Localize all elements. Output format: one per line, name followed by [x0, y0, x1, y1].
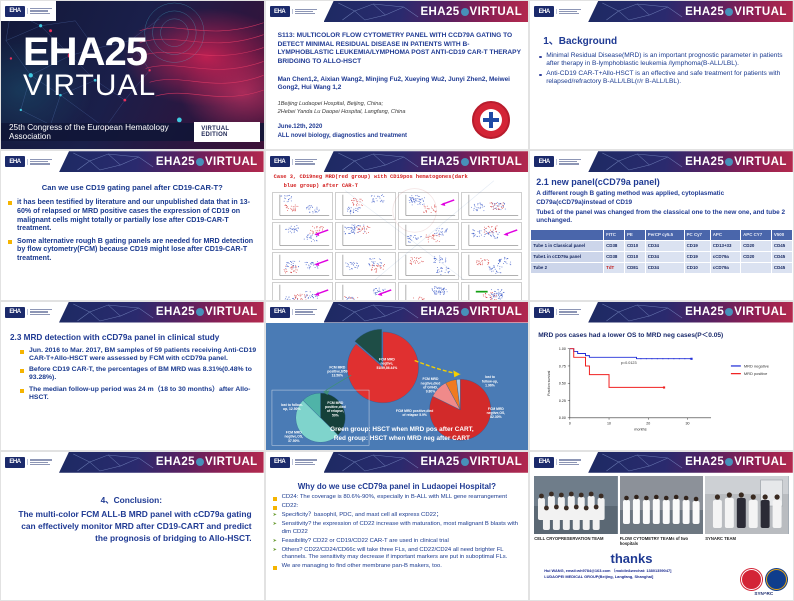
list-item: CD24: The coverage is 80.6%-90%, especia… [273, 494, 522, 501]
table-col-header [531, 229, 604, 240]
chart-heading: MRD pos cases had a lower OS to MRD neg … [538, 329, 793, 339]
svg-text:0.75: 0.75 [559, 364, 566, 368]
eha-logo: EHA [266, 151, 324, 172]
list-item: ➤Sensitivity? the expression of CD22 inc… [273, 521, 522, 535]
km-curve-svg: 0.000.250.500.751.000102030monthsFractio… [536, 341, 787, 437]
eha-logo: EHA [266, 302, 324, 323]
eha-banner: EHA EHA25VIRTUAL [1, 151, 264, 172]
svg-text:MRD positive: MRD positive [744, 371, 768, 376]
banner-title: EHA25VIRTUAL [156, 456, 258, 468]
list-item: Jun. 2016 to Mar. 2017, BM samples of 59… [20, 347, 257, 364]
eha-logo-mark: EHA [534, 307, 554, 318]
svg-text:MRD negative: MRD negative [744, 363, 769, 368]
eha-logo-subtext [292, 9, 317, 15]
list-item: Some alternative rough B gating panels a… [8, 237, 257, 263]
table-cell: CD34 [645, 240, 684, 251]
panel-description-1: A different rough B gating method was ap… [536, 190, 787, 207]
fcm-dot-plot [335, 222, 396, 250]
banner-dot-icon [461, 308, 469, 316]
panel-description-2: Tube1 of the panel was changed from the … [536, 209, 787, 226]
thanks-text: thanks [530, 551, 793, 566]
svg-text:0: 0 [569, 421, 571, 425]
eha-logo: EHA [1, 151, 59, 172]
table-cell: CD45 [771, 240, 792, 251]
arrow-bullet-icon: ➤ [273, 521, 277, 527]
eha-logo-subtext [27, 159, 52, 165]
eha-logo-mark: EHA [5, 6, 25, 17]
fcm-dot-plot [272, 252, 333, 280]
study-bullet-list: Jun. 2016 to Mar. 2017, BM samples of 59… [20, 347, 257, 403]
eha-logo-mark: EHA [270, 156, 290, 167]
table-cell: cCD79a [710, 262, 740, 273]
abstract-title: S113: MULTICOLOR FLOW CYTOMETRY PANEL WI… [278, 32, 523, 67]
legend-red-group: Red group: HSCT when MRD neg after CART [282, 435, 523, 444]
eha-logo-subtext [556, 159, 581, 165]
medical-cross-icon [480, 109, 502, 131]
cover-title-line1: EHA25 [23, 33, 156, 71]
list-item: it has been testified by literature and … [8, 198, 257, 233]
banner-title: EHA25VIRTUAL [420, 456, 522, 468]
banner-dot-icon [725, 158, 733, 166]
eha-banner: EHA EHA25VIRTUAL [266, 452, 529, 473]
table-cell: CD45 [771, 262, 792, 273]
synarc-badge-icon [766, 569, 787, 590]
table-col-header: FITC [604, 229, 625, 240]
svg-text:10: 10 [607, 421, 611, 425]
fcm-dot-plot [335, 282, 396, 301]
banner-title: EHA25VIRTUAL [685, 6, 787, 18]
congress-name: 25th Congress of the European Hematology… [1, 123, 194, 141]
section-heading: 1、Background [543, 32, 786, 47]
fcm-dot-plot [272, 282, 333, 301]
fcm-dot-plot [398, 252, 459, 280]
table-row-label: Tube 1 in Classical panel [531, 240, 604, 251]
banner-dot-icon [461, 158, 469, 166]
slide-9-survival-curve[interactable]: EHA EHA25VIRTUAL MRD pos cases had a low… [529, 301, 794, 451]
table-col-header: PerCP cy5.5 [645, 229, 684, 240]
eha-logo: EHA [530, 1, 588, 22]
slide-deck-grid: EHA EHA25 VIRTUAL 25th Congress of the E… [0, 0, 794, 601]
legend-green-group: Green group: HSCT when MRD pos after CAR… [282, 426, 523, 435]
banner-dot-icon [725, 308, 733, 316]
eha-banner: EHA EHA25VIRTUAL [266, 1, 529, 22]
conclusion-block: 4、Conclusion: The multi-color FCM ALL-B … [11, 495, 252, 545]
banner-bar: EHA25VIRTUAL [324, 452, 529, 473]
slide-4-cd19-gating-question[interactable]: EHA EHA25VIRTUAL Can we use CD19 gating … [0, 150, 265, 300]
table-row: Tube 1 in Classical panelCD38CD10CD34CD1… [531, 240, 793, 251]
rationale-list: CD24: The coverage is 80.6%-90%, especia… [273, 494, 522, 571]
svg-text:9.80%: 9.80% [425, 389, 435, 393]
arrow-bullet-icon: ➤ [273, 538, 277, 544]
table-cell: TdT [604, 262, 625, 273]
slide-2-abstract-title[interactable]: EHA EHA25VIRTUAL S113: MULTICOLOR FLOW C… [265, 0, 530, 150]
banner-bar: EHA25VIRTUAL [324, 302, 529, 323]
arrow-bullet-icon: ➤ [273, 512, 277, 518]
eha-logo: EHA [530, 151, 588, 172]
team-photo-flow-cytometry [620, 476, 704, 534]
table-cell: CD20 [741, 240, 772, 251]
eha-logo-mark: EHA [5, 307, 25, 318]
eha-banner: EHA EHA25VIRTUAL [266, 302, 529, 323]
list-item: We are managing to find other membrane p… [273, 563, 522, 570]
fcm-dot-plot [461, 222, 522, 250]
table-row-label: Tube1 in cCD79a panel [531, 251, 604, 262]
conclusion-text: The multi-color FCM ALL-B MRD panel with… [18, 509, 251, 543]
eha-logo-subtext [292, 459, 317, 465]
eha-logo-subtext [292, 159, 317, 165]
table-cell: CD10 [624, 251, 645, 262]
banner-dot-icon [196, 458, 204, 466]
banner-dot-icon [725, 8, 733, 16]
banner-bar: EHA25VIRTUAL [59, 302, 264, 323]
list-item: Minimal Residual Disease(MRD) is an impo… [537, 52, 786, 68]
table-cell [741, 262, 772, 273]
list-item: CD22: [273, 503, 522, 510]
eha-logo-subtext [27, 8, 52, 14]
cover-title: EHA25 VIRTUAL [23, 33, 156, 101]
svg-text:0.00: 0.00 [559, 416, 566, 420]
banner-dot-icon [461, 8, 469, 16]
eha-logo-mark: EHA [270, 457, 290, 468]
slide-11-why-ccd79a[interactable]: EHA EHA25VIRTUAL Why do we use cCD79a pa… [265, 451, 530, 601]
km-plot: 0.000.250.500.751.000102030monthsFractio… [536, 341, 787, 437]
svg-text:Fraction survival: Fraction survival [547, 370, 551, 395]
fcm-dot-plot [335, 192, 396, 220]
conclusion-heading: 4、Conclusion: [11, 495, 252, 507]
table-header-row: FITCPEPerCP cy5.5PC Cy7APCAPC CY7V500 [531, 229, 793, 240]
slide-1-cover[interactable]: EHA EHA25 VIRTUAL 25th Congress of the E… [0, 0, 265, 150]
section-heading: 2.1 new panel(cCD79a panel) [536, 177, 793, 187]
svg-text:1.96%: 1.96% [485, 383, 495, 387]
banner-bar: EHA25VIRTUAL [588, 151, 793, 172]
list-item: Before CD19 CAR-T, the percentages of BM… [20, 366, 257, 383]
svg-text:0.25: 0.25 [559, 399, 566, 403]
eha-banner: EHA EHA25VIRTUAL [1, 302, 264, 323]
table-row: Tube 2TdTCD81CD34CD10cCD79aCD45 [531, 262, 793, 273]
svg-text:20: 20 [646, 421, 650, 425]
cover-footer: 25th Congress of the European Hematology… [1, 123, 264, 141]
section-heading: Why do we use cCD79a panel in Ludaopei H… [273, 482, 522, 491]
team-photo-row [530, 473, 793, 534]
table-cell: CD34 [645, 262, 684, 273]
slide-body: 1、Background Minimal Residual Disease(MR… [530, 22, 793, 86]
photo-captions: CELL CRYOPRESERVATION TEAM FLOW CYTOMETR… [530, 534, 793, 547]
caption-flow-cytometry: FLOW CYTOMETRY TEAMs of two hospitals [620, 536, 704, 547]
fcm-dot-plot [272, 222, 333, 250]
banner-bar: EHA25VIRTUAL [324, 151, 529, 172]
eha-logo-subtext [27, 459, 52, 465]
eha-logo: EHA [530, 302, 588, 323]
eha-banner: EHA EHA25VIRTUAL [266, 151, 529, 172]
eha-logo: EHA [266, 452, 324, 473]
table-cell: cCD79a [710, 251, 740, 262]
slide-body: Why do we use cCD79a panel in Ludaopei H… [266, 473, 529, 571]
table-cell: CD38 [604, 240, 625, 251]
svg-text:50%: 50% [332, 413, 339, 417]
eha-logo-mark: EHA [5, 156, 25, 167]
fcm-dot-plot [272, 192, 333, 220]
table-cell: CD10 [624, 240, 645, 251]
fcm-dot-plot [461, 192, 522, 220]
eha-banner: EHA EHA25VIRTUAL [1, 452, 264, 473]
fcm-dot-plot [398, 282, 459, 301]
fcm-plot-grid [266, 192, 529, 301]
banner-title: EHA25VIRTUAL [156, 156, 258, 168]
fcm-dot-plot [398, 192, 459, 220]
slide-body: 2.3 MRD detection with cCD79a panel in c… [1, 323, 264, 403]
list-item: ➤Specificity？basophil, PDC, and mast cel… [273, 512, 522, 519]
banner-bar: EHA25VIRTUAL [588, 452, 793, 473]
eha-logo-subtext [556, 9, 581, 15]
table-cell: CD13+33 [710, 240, 740, 251]
table-cell: CD19 [684, 251, 710, 262]
banner-title: EHA25VIRTUAL [156, 306, 258, 318]
svg-text:30: 30 [686, 421, 690, 425]
org-badges: SYN^RC [741, 569, 787, 596]
banner-title: EHA25VIRTUAL [685, 156, 787, 168]
banner-title: EHA25VIRTUAL [420, 156, 522, 168]
eha-logo-subtext [556, 309, 581, 315]
svg-text:13.56%: 13.56% [331, 373, 342, 377]
section-heading: 2.3 MRD detection with cCD79a panel in c… [10, 333, 257, 342]
slide-6-new-panel[interactable]: EHA EHA25VIRTUAL 2.1 new panel(cCD79a pa… [529, 150, 794, 300]
banner-dot-icon [196, 158, 204, 166]
table-col-header: PC Cy7 [684, 229, 710, 240]
table-cell: CD45 [771, 251, 792, 262]
eha-logo: EHA [1, 1, 56, 21]
fcm-dot-plot [461, 282, 522, 301]
eha-banner: EHA EHA25VIRTUAL [530, 151, 793, 172]
case-caption-line2: blue group) after CAR-T [284, 183, 529, 190]
case-caption-line1: Case 3, CD19neg MRD(red group) with CD19… [274, 174, 529, 181]
table-cell: CD20 [741, 251, 772, 262]
eha-logo-mark: EHA [5, 457, 25, 468]
banner-title: EHA25VIRTUAL [420, 6, 522, 18]
table-cell: CD81 [624, 262, 645, 273]
banner-bar: EHA25VIRTUAL [324, 1, 529, 22]
fcm-dot-plot [398, 222, 459, 250]
virtual-edition-badge: VIRTUAL EDITION [194, 122, 259, 142]
svg-text:51/59,86.44%: 51/59,86.44% [376, 365, 397, 369]
banner-dot-icon [196, 308, 204, 316]
banner-bar: EHA25VIRTUAL [59, 151, 264, 172]
slide-8-outcome-pie-charts[interactable]: EHA EHA25VIRTUAL FCM MRDnegtive,51/59,86… [265, 301, 530, 451]
group-legend: Green group: HSCT when MRD pos after CAR… [282, 426, 523, 443]
eha-logo-mark: EHA [534, 156, 554, 167]
author-list: Man Chen1,2, Aixian Wang2, Minjing Fu2, … [278, 76, 523, 93]
fcm-dot-plot [335, 252, 396, 280]
table-col-header: APC [710, 229, 740, 240]
banner-title: EHA25VIRTUAL [685, 456, 787, 468]
eha-banner: EHA EHA25VIRTUAL [530, 452, 793, 473]
eha-logo: EHA [1, 452, 59, 473]
svg-text:up, 12.50%: up, 12.50% [283, 407, 300, 411]
slide-question: Can we use CD19 gating panel after CD19-… [8, 183, 257, 192]
banner-bar: EHA25VIRTUAL [588, 302, 793, 323]
eha-logo: EHA [1, 302, 59, 323]
antibody-panel-table: FITCPEPerCP cy5.5PC Cy7APCAPC CY7V500 Tu… [530, 229, 793, 274]
svg-text:0.50: 0.50 [559, 381, 566, 385]
table-cell: CD38 [604, 251, 625, 262]
list-item: ➤Feasibility? CD22 or CD19/CD22 CAR-T ar… [273, 538, 522, 545]
svg-text:of relapse 5.9%: of relapse 5.9% [402, 412, 427, 416]
eha-banner: EHA EHA25VIRTUAL [530, 1, 793, 22]
caption-cryopreservation: CELL CRYOPRESERVATION TEAM [534, 536, 618, 547]
banner-dot-icon [461, 458, 469, 466]
arrow-bullet-icon: ➤ [273, 547, 277, 553]
banner-title: EHA25VIRTUAL [420, 306, 522, 318]
cd19-bullet-list: it has been testified by literature and … [8, 198, 257, 262]
table-col-header: PE [624, 229, 645, 240]
team-photo-synarc [705, 476, 789, 534]
slide-12-acknowledgments[interactable]: EHA EHA25VIRTUAL CELL CRYOPRESERVATION T… [529, 451, 794, 601]
slide-7-mrd-clinical-study[interactable]: EHA EHA25VIRTUAL 2.3 MRD detection with … [0, 301, 265, 451]
table-col-header: V500 [771, 229, 792, 240]
eha-logo: EHA [530, 452, 588, 473]
table-col-header: APC CY7 [741, 229, 772, 240]
eha-logo: EHA [266, 1, 324, 22]
banner-title: EHA25VIRTUAL [685, 306, 787, 318]
table-cell: CD34 [645, 251, 684, 262]
eha-logo-mark: EHA [270, 6, 290, 17]
svg-text:p=0.0123: p=0.0123 [621, 360, 637, 364]
hospital-badge-icon [741, 569, 762, 590]
slide-10-conclusion[interactable]: EHA EHA25VIRTUAL 4、Conclusion: The multi… [0, 451, 265, 601]
cover-background: EHA EHA25 VIRTUAL 25th Congress of the E… [1, 1, 264, 149]
banner-bar: EHA25VIRTUAL [588, 1, 793, 22]
slide-3-background[interactable]: EHA EHA25VIRTUAL 1、Background Minimal Re… [529, 0, 794, 150]
eha-banner: EHA EHA25VIRTUAL [530, 302, 793, 323]
table-cell: CD19 [684, 240, 710, 251]
eha-logo-subtext [556, 459, 581, 465]
caption-synarc: SYNARC TEAM [705, 536, 789, 547]
svg-text:1.00: 1.00 [559, 347, 566, 351]
table-row-label: Tube 2 [531, 262, 604, 273]
slide-body: Can we use CD19 gating panel after CD19-… [1, 172, 264, 262]
list-item: ➤Others? CD22/CD24/CD66c will take three… [273, 547, 522, 561]
background-bullet-list: Minimal Residual Disease(MRD) is an impo… [537, 52, 786, 86]
eha-logo-mark: EHA [534, 6, 554, 17]
list-item: Anti-CD19 CAR-T+Allo-HSCT is an effectiv… [537, 70, 786, 86]
eha-logo-subtext [27, 309, 52, 315]
eha-logo-mark: EHA [534, 457, 554, 468]
cover-title-line2: VIRTUAL [23, 71, 156, 101]
fcm-dot-plot [461, 252, 522, 280]
svg-text:months: months [634, 427, 647, 431]
synarc-label: SYN^RC [741, 591, 787, 596]
slide-5-flow-cytometry-plots[interactable]: EHA EHA25VIRTUAL Case 3, CD19neg MRD(red… [265, 150, 530, 300]
banner-bar: EHA25VIRTUAL [59, 452, 264, 473]
table-row: Tube1 in cCD79a panelCD38CD10CD34CD19cCD… [531, 251, 793, 262]
eha-logo-mark: EHA [270, 307, 290, 318]
list-item: The median follow-up period was 24 m（18 … [20, 386, 257, 403]
svg-text:82.30%: 82.30% [490, 415, 501, 419]
banner-dot-icon [725, 458, 733, 466]
team-photo-cryopreservation [534, 476, 618, 534]
table-cell: CD10 [684, 262, 710, 273]
eha-logo-subtext [292, 309, 317, 315]
